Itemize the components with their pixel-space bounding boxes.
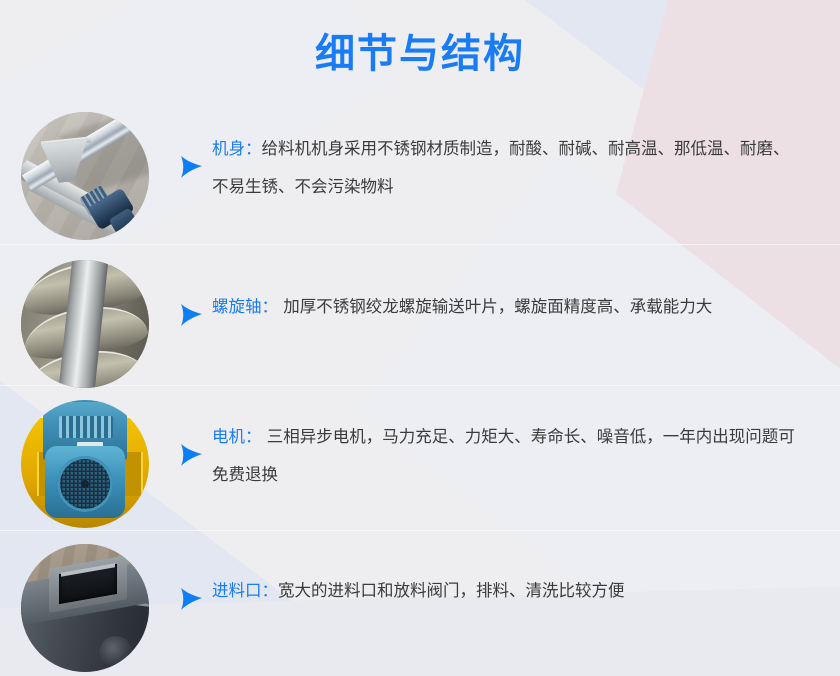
thumb-wrap-screw-shaft [0, 260, 170, 388]
play-arrow-icon [170, 442, 212, 468]
feature-lead-body: 机身： [212, 139, 262, 158]
play-arrow-icon [170, 302, 212, 328]
feature-row-body: 机身：给料机机身采用不锈钢材质制造，耐酸、耐碱、耐高温、那低温、耐磨、不易生锈、… [0, 110, 840, 242]
screw-conveyor-photo [21, 112, 149, 240]
auger-shaft-photo [21, 260, 149, 388]
feature-text-screw-shaft: 螺旋轴： 加厚不锈钢绞龙螺旋输送叶片，螺旋面精度高、承载能力大 [212, 288, 840, 326]
feature-body-inlet: 宽大的进料口和放料阀门，排料、清洗比较方便 [278, 581, 625, 600]
section-divider-1 [0, 244, 840, 245]
feature-lead-motor: 电机： [212, 427, 262, 446]
feature-row-inlet: 进料口：宽大的进料口和放料阀门，排料、清洗比较方便 [0, 542, 840, 674]
feature-text-motor: 电机： 三相异步电机，马力充足、力矩大、寿命长、噪音低，一年内出现问题可免费退换 [212, 418, 840, 494]
feature-text-inlet: 进料口：宽大的进料口和放料阀门，排料、清洗比较方便 [212, 572, 840, 610]
feature-lead-inlet: 进料口： [212, 581, 278, 600]
feature-body-motor: 三相异步电机，马力充足、力矩大、寿命长、噪音低，一年内出现问题可免费退换 [212, 427, 795, 484]
electric-motor-photo [21, 400, 149, 528]
feature-lead-screw-shaft: 螺旋轴： [212, 297, 278, 316]
feature-text-body: 机身：给料机机身采用不锈钢材质制造，耐酸、耐碱、耐高温、那低温、耐磨、不易生锈、… [212, 130, 840, 206]
feature-row-motor: 电机： 三相异步电机，马力充足、力矩大、寿命长、噪音低，一年内出现问题可免费退换 [0, 398, 840, 530]
page-title: 细节与结构 [0, 30, 840, 78]
detail-structure-page: 细节与结构 机身：给料机机身采用不锈钢材质制造，耐酸、耐碱、耐高温、那 [0, 0, 840, 676]
feature-body-screw-shaft: 加厚不锈钢绞龙螺旋输送叶片，螺旋面精度高、承载能力大 [278, 297, 712, 316]
play-arrow-icon [170, 154, 212, 180]
feature-body-body: 给料机机身采用不锈钢材质制造，耐酸、耐碱、耐高温、那低温、耐磨、不易生锈、不会污… [212, 139, 790, 196]
play-arrow-icon [170, 586, 212, 612]
section-divider-3 [0, 530, 840, 531]
thumb-wrap-motor [0, 400, 170, 528]
thumb-wrap-inlet [0, 544, 170, 672]
feed-inlet-photo [21, 544, 149, 672]
feature-row-screw-shaft: 螺旋轴： 加厚不锈钢绞龙螺旋输送叶片，螺旋面精度高、承载能力大 [0, 258, 840, 390]
thumb-wrap-body [0, 112, 170, 240]
